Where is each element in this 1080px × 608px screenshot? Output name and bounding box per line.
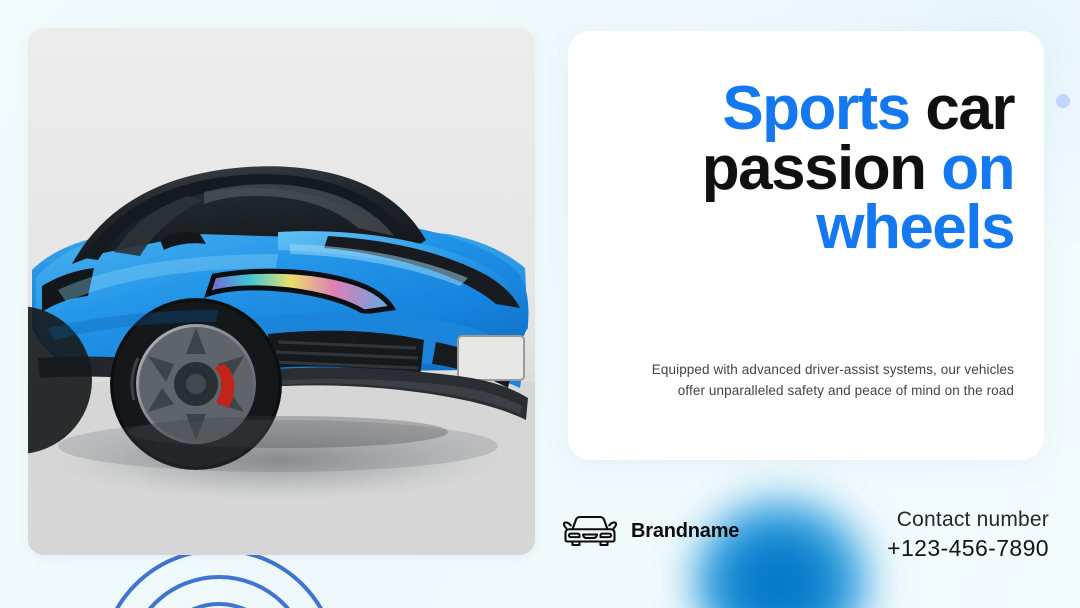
supporting-paragraph: Equipped with advanced driver-assist sys… (598, 360, 1014, 402)
poster-canvas: Sports car passion on wheels Equipped wi… (0, 0, 1080, 608)
headline-line-2: passion on (598, 139, 1014, 199)
contact-block: Contact number +123-456-7890 (887, 506, 1049, 564)
brand-name-label: Brandname (631, 520, 739, 543)
car-illustration (28, 28, 535, 555)
rings-svg (98, 548, 340, 608)
headline-line-3: wheels (598, 198, 1014, 258)
car-front-icon (562, 513, 618, 549)
contact-number[interactable]: +123-456-7890 (887, 534, 1049, 564)
brand-lockup[interactable]: Brandname (562, 513, 739, 549)
page-title: Sports car passion on wheels (598, 79, 1014, 258)
concentric-rings-decoration (98, 548, 340, 608)
blue-blur-blob-decoration (690, 492, 876, 608)
right-edge-dot-decoration (1056, 94, 1070, 108)
headline-line-1: Sports car (598, 79, 1014, 139)
contact-label: Contact number (887, 506, 1049, 534)
hero-car-image (28, 28, 535, 555)
headline-word-wheels: wheels (816, 193, 1014, 262)
headline-card: Sports car passion on wheels Equipped wi… (568, 31, 1044, 460)
